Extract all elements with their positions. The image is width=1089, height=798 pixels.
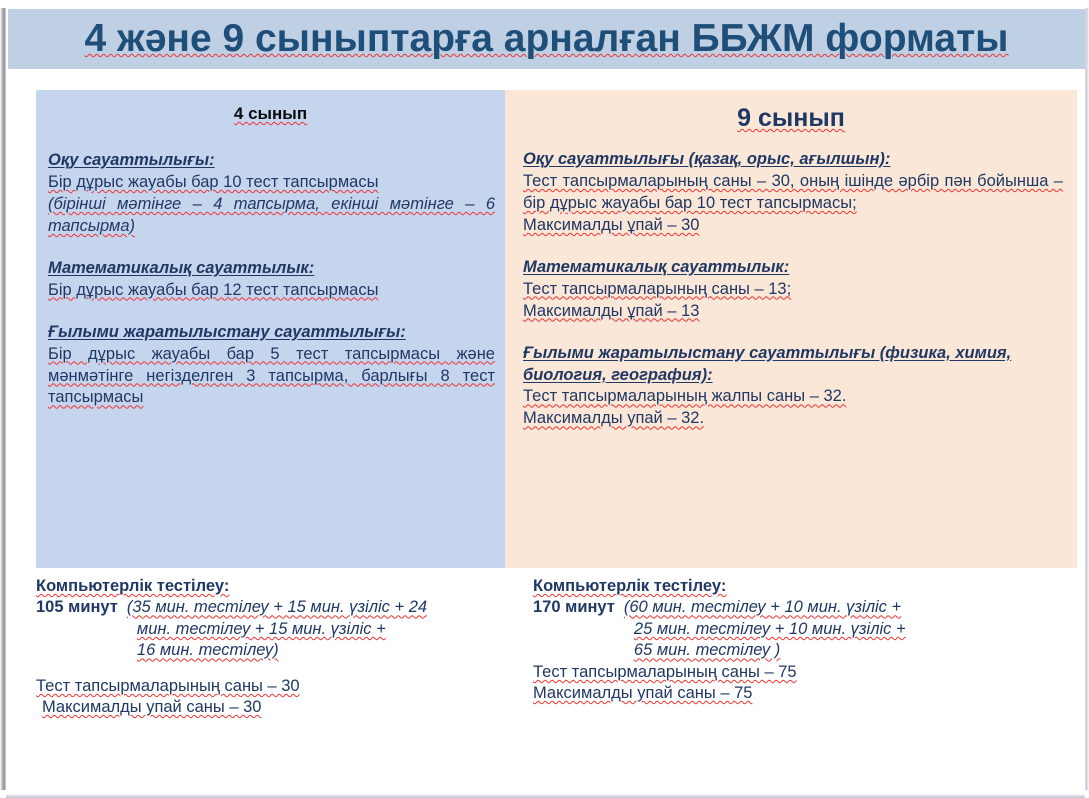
grade-4-section-science: Ғылыми жаратылыстану сауаттылығы: Бір дұ… — [48, 322, 495, 410]
testing-duration-detail: (60 мин. тестілеу + 10 мин. үзіліс + 25 … — [624, 597, 906, 661]
testing-tasks-count: Тест тапсырмаларының саны – 75 — [533, 662, 1078, 683]
section-line: Тест тапсырмаларының саны – 30, оның іші… — [523, 171, 1063, 215]
grade-9-heading: 9 сынып — [505, 104, 1077, 133]
testing-max-score: Максималды упай саны – 30 — [36, 697, 506, 718]
section-line: Тест тапсырмаларының саны – 13; — [523, 279, 1063, 301]
spacer — [48, 302, 495, 322]
testing-duration-label: 105 минут — [36, 597, 118, 618]
spacer — [523, 237, 1063, 257]
slide-left-edge — [0, 8, 6, 790]
slide-frame: 4 және 9 сыныптарға арналған ББЖМ формат… — [0, 0, 1089, 798]
section-line: Бір дұрыс жауабы бар 12 тест тапсырмасы — [48, 280, 495, 302]
section-line: Максималды ұпай – 30 — [523, 215, 1063, 237]
title-band: 4 және 9 сыныптарға арналған ББЖМ формат… — [8, 9, 1085, 69]
slide-right-edge — [1085, 8, 1089, 790]
duration-detail-line: мин. тестілеу + 15 мин. үзіліс + — [127, 619, 427, 640]
section-title-science: Ғылыми жаратылыстану сауаттылығы (физика… — [523, 343, 1063, 387]
slide-title: 4 және 9 сыныптарға арналған ББЖМ формат… — [85, 17, 1009, 61]
spacer — [48, 238, 495, 258]
testing-duration-row: 105 минут (35 мин. тестілеу + 15 мин. үз… — [36, 597, 506, 661]
grade-9-section-science: Ғылыми жаратылыстану сауаттылығы (физика… — [523, 343, 1063, 431]
testing-heading: Компьютерлік тестілеу: — [533, 576, 1078, 597]
section-line: Бір дұрыс жауабы бар 5 тест тапсырмасы ж… — [48, 344, 495, 410]
duration-detail-line: (60 мин. тестілеу + 10 мин. үзіліс + — [624, 598, 901, 616]
testing-duration-detail: (35 мин. тестілеу + 15 мин. үзіліс + 24 … — [127, 597, 427, 661]
grade-4-heading: 4 сынып — [36, 104, 505, 124]
grade-4-testing-block: Компьютерлік тестілеу: 105 минут (35 мин… — [36, 576, 506, 719]
testing-tasks-count: Тест тапсырмаларының саны – 30 — [36, 676, 506, 697]
duration-detail-line: 65 мин. тестілеу ) — [624, 640, 906, 661]
section-line: Бір дұрыс жауабы бар 10 тест тапсырмасы — [48, 172, 495, 194]
slide-bottom-edge — [6, 794, 1085, 798]
duration-detail-line: 25 мин. тестілеу + 10 мин. үзіліс + — [624, 619, 906, 640]
testing-heading: Компьютерлік тестілеу: — [36, 576, 506, 597]
grade-4-section-reading: Оқу сауаттылығы: Бір дұрыс жауабы бар 10… — [48, 150, 495, 238]
grade-9-testing-block: Компьютерлік тестілеу: 170 минут (60 мин… — [533, 576, 1078, 705]
section-title-science: Ғылыми жаратылыстану сауаттылығы: — [48, 322, 495, 344]
section-line: Максималды упай – 32. — [523, 408, 1063, 430]
duration-detail-line: (35 мин. тестілеу + 15 мин. үзіліс + 24 — [127, 598, 427, 616]
section-title-math: Математикалық сауаттылык: — [523, 257, 1063, 279]
section-line: Максималды ұпай – 13 — [523, 301, 1063, 323]
section-title-reading: Оқу сауаттылығы: — [48, 150, 495, 172]
section-line: (бірінші мәтінге – 4 тапсырма, екінші мә… — [48, 194, 495, 238]
section-title-reading: Оқу сауаттылығы (қазақ, орыс, ағылшын): — [523, 149, 1063, 171]
spacer — [36, 662, 506, 676]
grade-4-body: Оқу сауаттылығы: Бір дұрыс жауабы бар 10… — [36, 150, 505, 409]
testing-duration-row: 170 минут (60 мин. тестілеу + 10 мин. үз… — [533, 597, 1078, 661]
grade-4-panel: 4 сынып Оқу сауаттылығы: Бір дұрыс жауаб… — [36, 90, 505, 568]
testing-duration-label: 170 минут — [533, 597, 615, 618]
section-title-math: Математикалық сауаттылык: — [48, 258, 495, 280]
grade-9-section-math: Математикалық сауаттылык: Тест тапсырмал… — [523, 257, 1063, 323]
spacer — [523, 323, 1063, 343]
section-line: Тест тапсырмаларының жалпы саны – 32. — [523, 386, 1063, 408]
grade-4-section-math: Математикалық сауаттылык: Бір дұрыс жауа… — [48, 258, 495, 302]
grade-9-section-reading: Оқу сауаттылығы (қазақ, орыс, ағылшын): … — [523, 149, 1063, 237]
testing-max-score: Максималды упай саны – 75 — [533, 683, 1078, 704]
grade-9-panel: 9 сынып Оқу сауаттылығы (қазақ, орыс, ағ… — [505, 90, 1077, 568]
duration-detail-line: 16 мин. тестілеу) — [127, 640, 427, 661]
grade-9-body: Оқу сауаттылығы (қазақ, орыс, ағылшын): … — [505, 149, 1077, 430]
